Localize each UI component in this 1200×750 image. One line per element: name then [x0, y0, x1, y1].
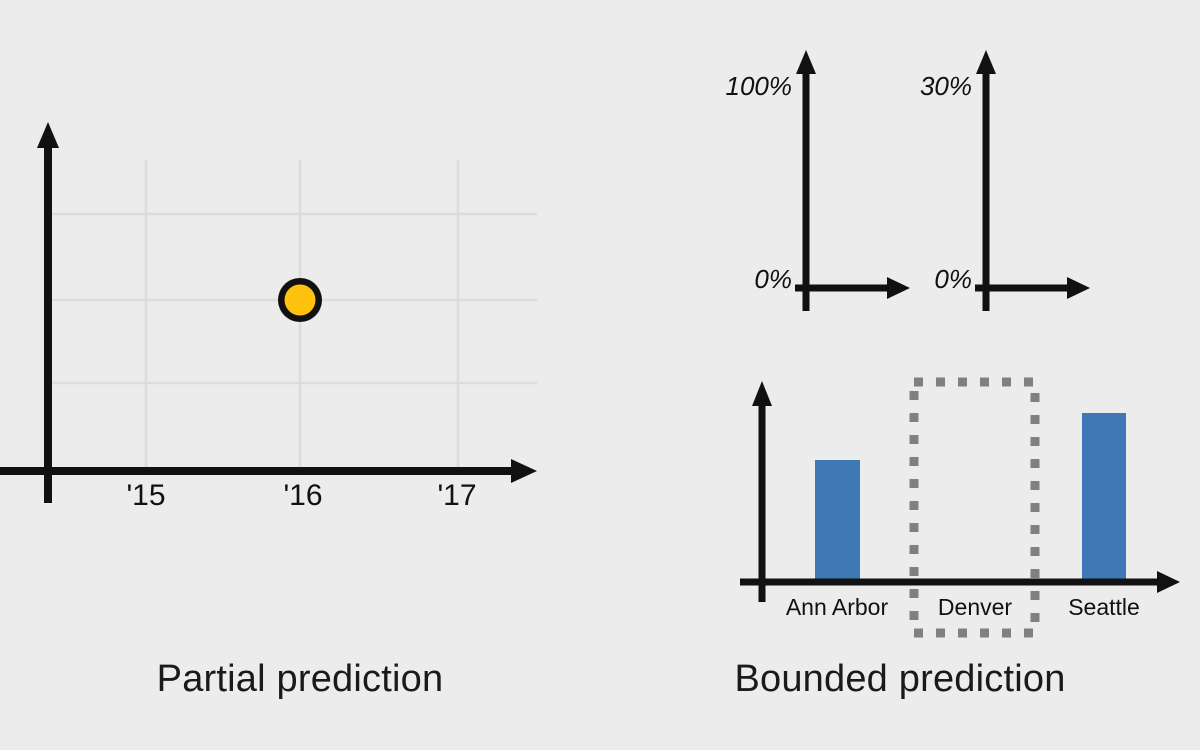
- panel-partial-prediction: '15 '16 '17 Partial prediction: [0, 0, 600, 750]
- panel-caption-bounded: Bounded prediction: [600, 658, 1200, 701]
- bar-chart-x-arrowhead: [1157, 571, 1180, 593]
- partial-prediction-chart: '15 '16 '17: [0, 0, 600, 620]
- gauge-axes-right: 30% 0%: [920, 50, 1090, 311]
- gauge-left-x-arrowhead: [887, 277, 910, 299]
- x-axis-arrowhead: [511, 459, 537, 483]
- bounded-prediction-chart: 100% 0% 30% 0%: [600, 0, 1200, 660]
- bar-chart-y-arrowhead: [752, 381, 772, 406]
- category-label-denver: Denver: [938, 594, 1012, 620]
- gauge-right-top-label: 30%: [920, 71, 972, 101]
- y-axis: [37, 122, 59, 503]
- figure-canvas: '15 '16 '17 Partial prediction 100% 0%: [0, 0, 1200, 750]
- y-axis-arrowhead: [37, 122, 59, 148]
- gauge-left-bottom-label: 0%: [754, 264, 792, 294]
- category-label-seattle: Seattle: [1068, 594, 1140, 620]
- gauge-right-bottom-label: 0%: [934, 264, 972, 294]
- bar-ann-arbor[interactable]: [815, 460, 860, 582]
- category-label-ann-arbor: Ann Arbor: [786, 594, 889, 620]
- panel-caption-partial: Partial prediction: [0, 658, 600, 701]
- gauge-axes-left: 100% 0%: [726, 50, 911, 311]
- gauge-left-y-arrowhead: [796, 50, 816, 74]
- panel-bounded-prediction: 100% 0% 30% 0%: [600, 0, 1200, 750]
- data-point-fill: [285, 285, 316, 316]
- x-tick-label-2015: '15: [126, 479, 165, 512]
- data-point-2016[interactable]: [278, 278, 322, 322]
- x-tick-label-2017: '17: [437, 479, 476, 512]
- gauge-left-top-label: 100%: [726, 71, 793, 101]
- gauge-right-y-arrowhead: [976, 50, 996, 74]
- city-bar-chart: Ann Arbor Denver Seattle: [740, 381, 1180, 633]
- x-tick-label-2016: '16: [283, 479, 322, 512]
- bar-seattle[interactable]: [1082, 413, 1126, 582]
- gauge-right-x-arrowhead: [1067, 277, 1090, 299]
